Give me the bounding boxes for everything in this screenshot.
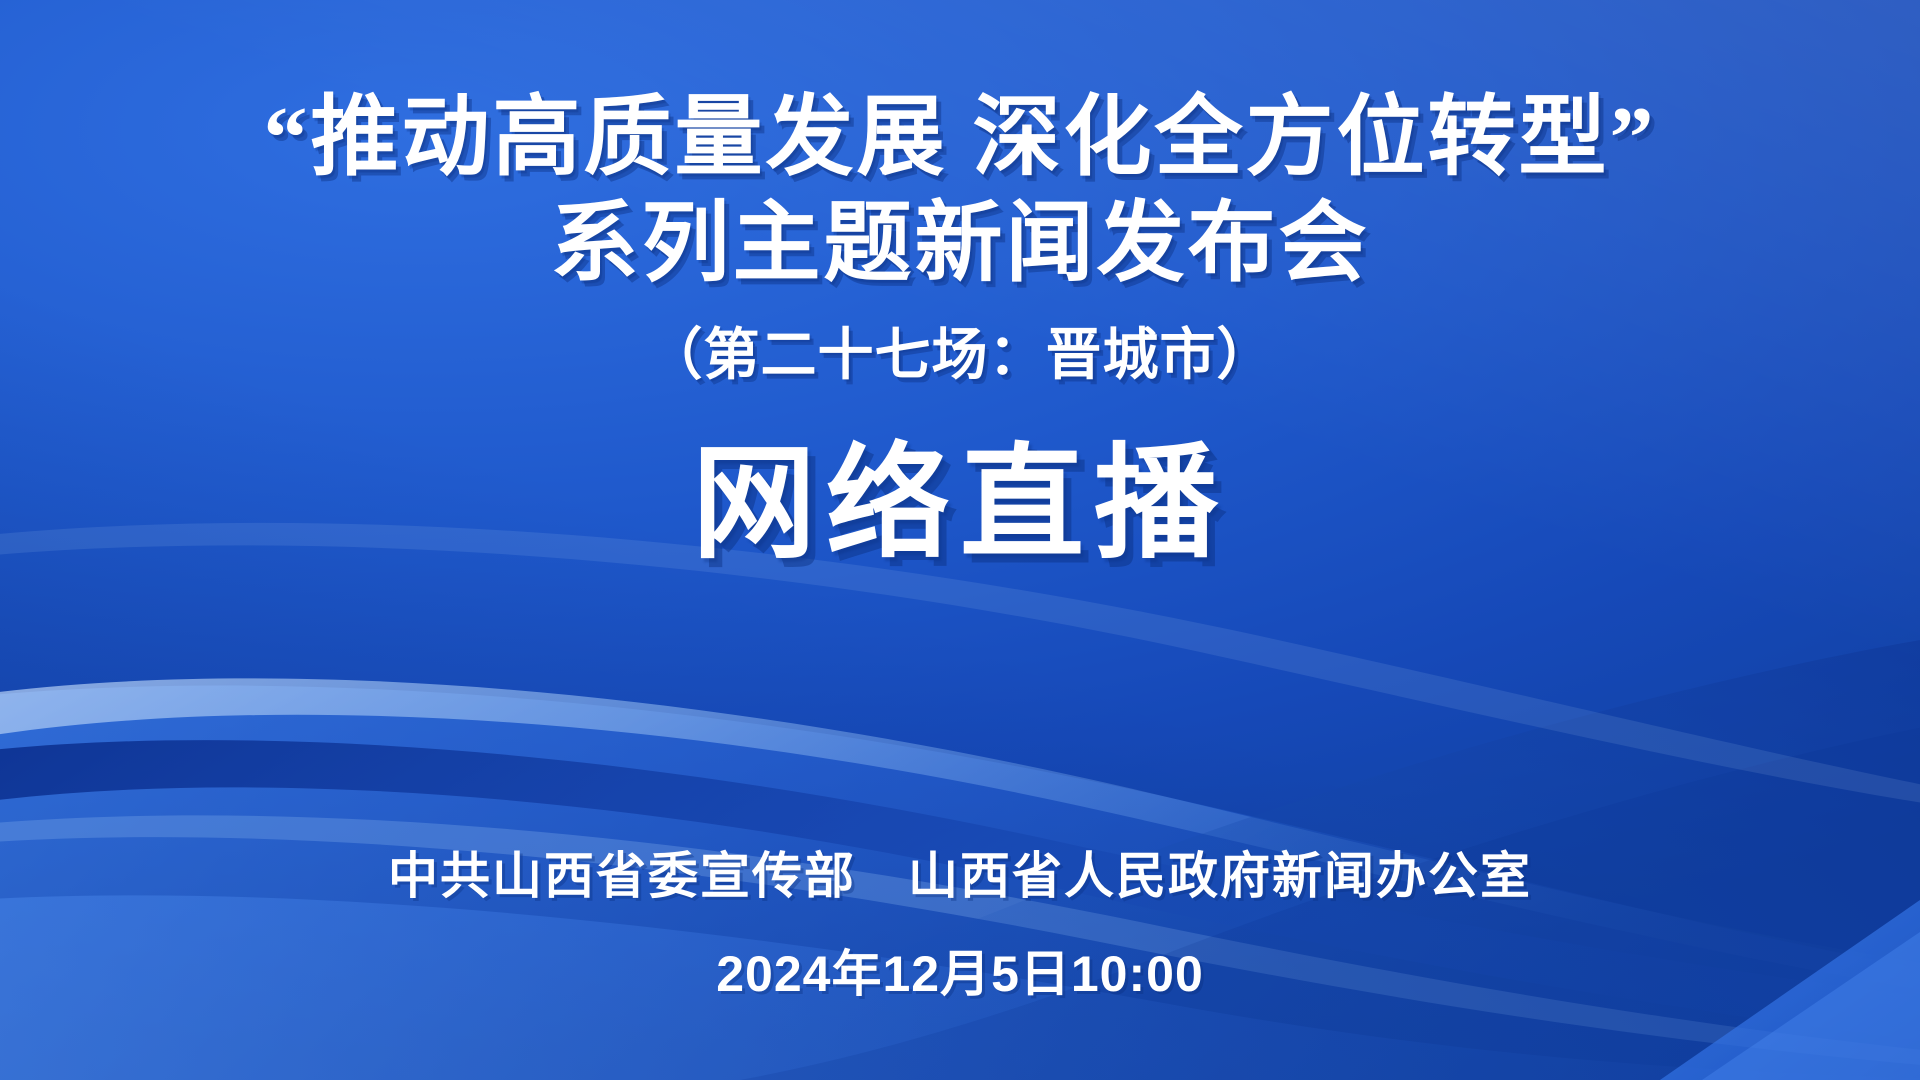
- poster-headline-live-broadcast: 网络直播: [692, 436, 1228, 575]
- poster-footer: 中共山西省委宣传部 山西省人民政府新闻办公室 2024年12月5日10:00: [0, 836, 1920, 1006]
- poster-organizers: 中共山西省委宣传部 山西省人民政府新闻办公室: [388, 836, 1532, 908]
- poster-session-label: （第二十七场：晋城市）: [647, 323, 1274, 390]
- poster-title-line-2: 系列主题新闻发布会: [550, 193, 1369, 297]
- poster-title-line-1: “推动高质量发展 深化全方位转型”: [263, 92, 1656, 185]
- broadcast-poster: “推动高质量发展 深化全方位转型” 系列主题新闻发布会 （第二十七场：晋城市） …: [0, 0, 1920, 1080]
- poster-datetime: 2024年12月5日10:00: [716, 934, 1204, 1006]
